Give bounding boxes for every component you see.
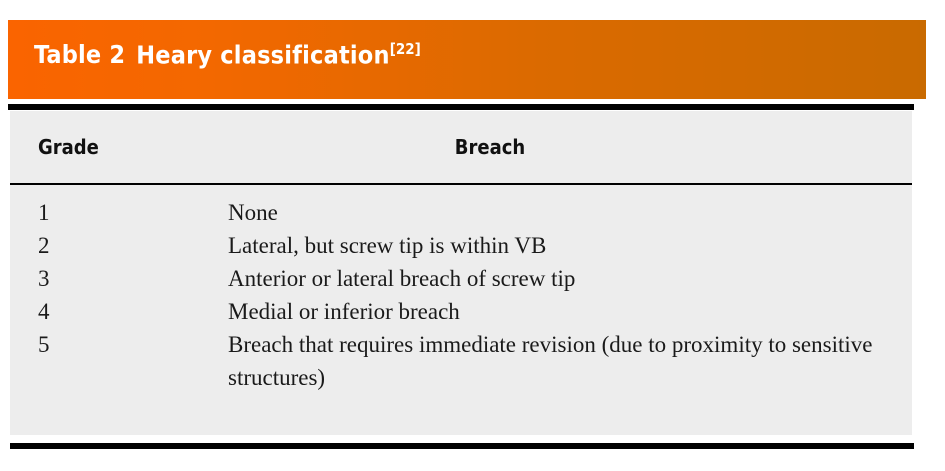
table-row: 3 Anterior or lateral breach of screw ti…	[10, 262, 912, 295]
table-row: 5 Breach that requires immediate revisio…	[10, 328, 912, 394]
column-header-grade: Grade	[10, 111, 228, 183]
table-header: Grade Breach	[10, 111, 912, 183]
cell-grade: 5	[10, 328, 228, 394]
cell-grade: 2	[10, 229, 228, 262]
table-header-row: Grade Breach	[10, 111, 912, 183]
cell-grade: 1	[10, 183, 228, 229]
table-row: 2 Lateral, but screw tip is within VB	[10, 229, 912, 262]
table-bottom-rule	[10, 443, 914, 449]
table-header-rule	[10, 183, 912, 185]
cell-grade: 3	[10, 262, 228, 295]
cell-breach-text: Medial or inferior breach	[228, 295, 888, 328]
table-caption-label: Table 2	[34, 40, 125, 69]
table-top-rule	[8, 104, 914, 110]
table-caption-reference: [22]	[390, 40, 421, 58]
table-row: 1 None	[10, 183, 912, 229]
cell-breach-text: Lateral, but screw tip is within VB	[228, 229, 888, 262]
table-row: 4 Medial or inferior breach	[10, 295, 912, 328]
cell-breach-text: Anterior or lateral breach of screw tip	[228, 262, 888, 295]
cell-breach: Lateral, but screw tip is within VB	[228, 229, 912, 262]
classification-table: Grade Breach 1 None 2 Lateral, but screw…	[10, 111, 912, 394]
cell-breach: Medial or inferior breach	[228, 295, 912, 328]
cell-breach: Anterior or lateral breach of screw tip	[228, 262, 912, 295]
column-header-breach: Breach	[228, 111, 912, 183]
cell-breach-text: Breach that requires immediate revision …	[228, 328, 888, 394]
table-caption-title: Heary classification	[136, 40, 389, 69]
table-body: 1 None 2 Lateral, but screw tip is withi…	[10, 183, 912, 394]
cell-breach-text: None	[228, 196, 888, 229]
table-caption-banner: Table 2Heary classification[22]	[8, 20, 926, 99]
table-caption: Table 2Heary classification[22]	[34, 42, 421, 67]
table-figure: Table 2Heary classification[22] Grade Br…	[0, 0, 945, 471]
cell-breach: None	[228, 183, 912, 229]
cell-grade: 4	[10, 295, 228, 328]
table-panel: Grade Breach 1 None 2 Lateral, but screw…	[10, 111, 912, 435]
cell-breach: Breach that requires immediate revision …	[228, 328, 912, 394]
